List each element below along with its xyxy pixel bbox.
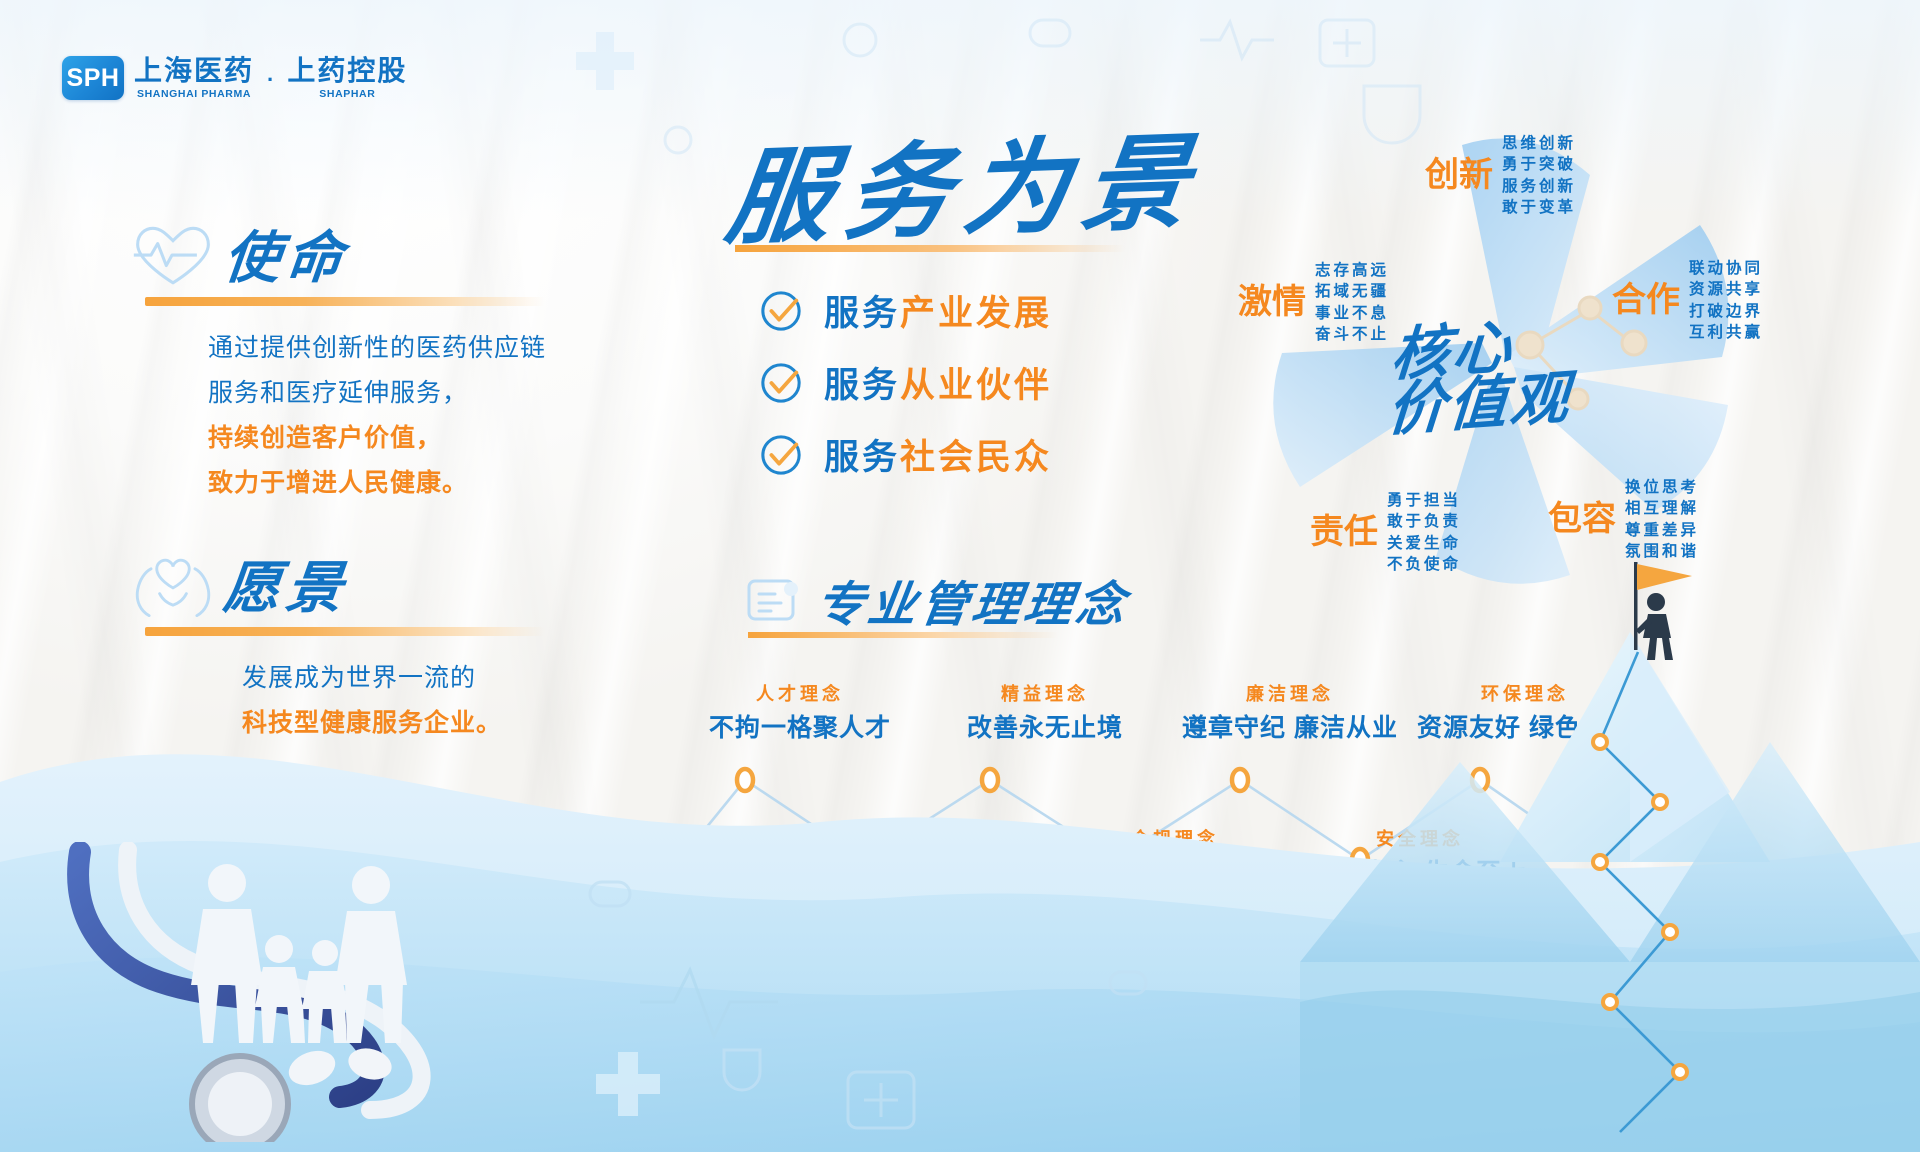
document-icon: [745, 575, 803, 625]
core-value-lines: 志存高远 拓域无疆 事业不息 奋斗不止: [1315, 260, 1389, 346]
mission-divider: [145, 297, 545, 306]
brand-logo: SPH 上海医药 SHANGHAI PHARMA · 上药控股 SHAPHAR: [62, 56, 407, 100]
core-value-innovation: 创新 思维创新 勇于突破 服务创新 敢于变革: [1425, 133, 1576, 219]
brand-name-cn: 上海医药: [134, 57, 254, 85]
hero-title: 服务为景: [720, 97, 1213, 264]
brand-separator: ·: [263, 67, 278, 99]
service-prefix: 服务: [824, 294, 900, 333]
mission-section: 使命 通过提供创新性的医药供应链 服务和医疗延伸服务， 持续创造客户价值， 致力…: [130, 215, 650, 512]
core-value-lines: 联动协同 资源共享 打破边界 互利共赢: [1689, 258, 1763, 344]
core-value-key: 激情: [1238, 285, 1306, 320]
poster-canvas: SPH 上海医药 SHANGHAI PHARMA · 上药控股 SHAPHAR …: [0, 0, 1920, 1152]
management-header: 专业管理理念: [745, 565, 1129, 635]
service-highlight: 产业发展: [900, 294, 1052, 333]
brand-primary: 上海医药 SHANGHAI PHARMA: [134, 57, 254, 100]
mission-title: 使命: [221, 231, 351, 287]
hero-divider: [735, 245, 1125, 252]
service-list: 服务产业发展 服务从业伙伴 服务社会民众: [760, 285, 1052, 501]
brand-name-en: SHANGHAI PHARMA: [137, 89, 251, 100]
logo-mark: SPH: [62, 56, 124, 100]
logo-mark-text: SPH: [67, 64, 120, 93]
check-circle-icon: [760, 434, 802, 476]
mission-line-1: 通过提供创新性的医药供应链: [208, 332, 650, 364]
flag-icon: [1637, 564, 1692, 590]
heart-pulse-icon: [130, 225, 216, 287]
mission-line-2: 服务和医疗延伸服务，: [208, 377, 650, 409]
brand-sub-cn: 上药控股: [287, 57, 407, 85]
service-highlight: 社会民众: [900, 438, 1052, 477]
mission-line-3: 持续创造客户价值，: [208, 422, 650, 454]
vision-divider: [145, 627, 545, 636]
mountain-climber-illustration: [1300, 532, 1920, 1152]
hands-heart-icon: [130, 555, 216, 617]
mission-text: 通过提供创新性的医药供应链 服务和医疗延伸服务， 持续创造客户价值， 致力于增进…: [130, 332, 650, 499]
management-divider: [748, 632, 1058, 638]
mission-line-4: 致力于增进人民健康。: [208, 467, 650, 499]
core-value-lines: 思维创新 勇于突破 服务创新 敢于变革: [1502, 133, 1576, 219]
service-item: 服务社会民众: [760, 429, 1052, 480]
core-value-cooperation: 合作 联动协同 资源共享 打破边界 互利共赢: [1612, 258, 1763, 344]
core-value-key: 合作: [1612, 283, 1680, 318]
management-title: 专业管理理念: [812, 565, 1134, 635]
brand-sub-en: SHAPHAR: [319, 89, 375, 100]
check-circle-icon: [760, 290, 802, 332]
core-value-key: 创新: [1425, 158, 1493, 193]
service-highlight: 从业伙伴: [900, 366, 1052, 405]
service-prefix: 服务: [824, 438, 900, 477]
family-silhouette-illustration: [175, 857, 435, 1047]
core-values-title: 核心 价值观: [1385, 312, 1624, 438]
service-item: 服务从业伙伴: [760, 357, 1052, 408]
service-prefix: 服务: [824, 366, 900, 405]
service-item: 服务产业发展: [760, 285, 1052, 336]
vision-title: 愿景: [221, 561, 351, 617]
brand-secondary: 上药控股 SHAPHAR: [287, 57, 407, 100]
climber-silhouette: [1634, 562, 1692, 660]
core-value-passion: 激情 志存高远 拓域无疆 事业不息 奋斗不止: [1238, 260, 1389, 346]
check-circle-icon: [760, 362, 802, 404]
